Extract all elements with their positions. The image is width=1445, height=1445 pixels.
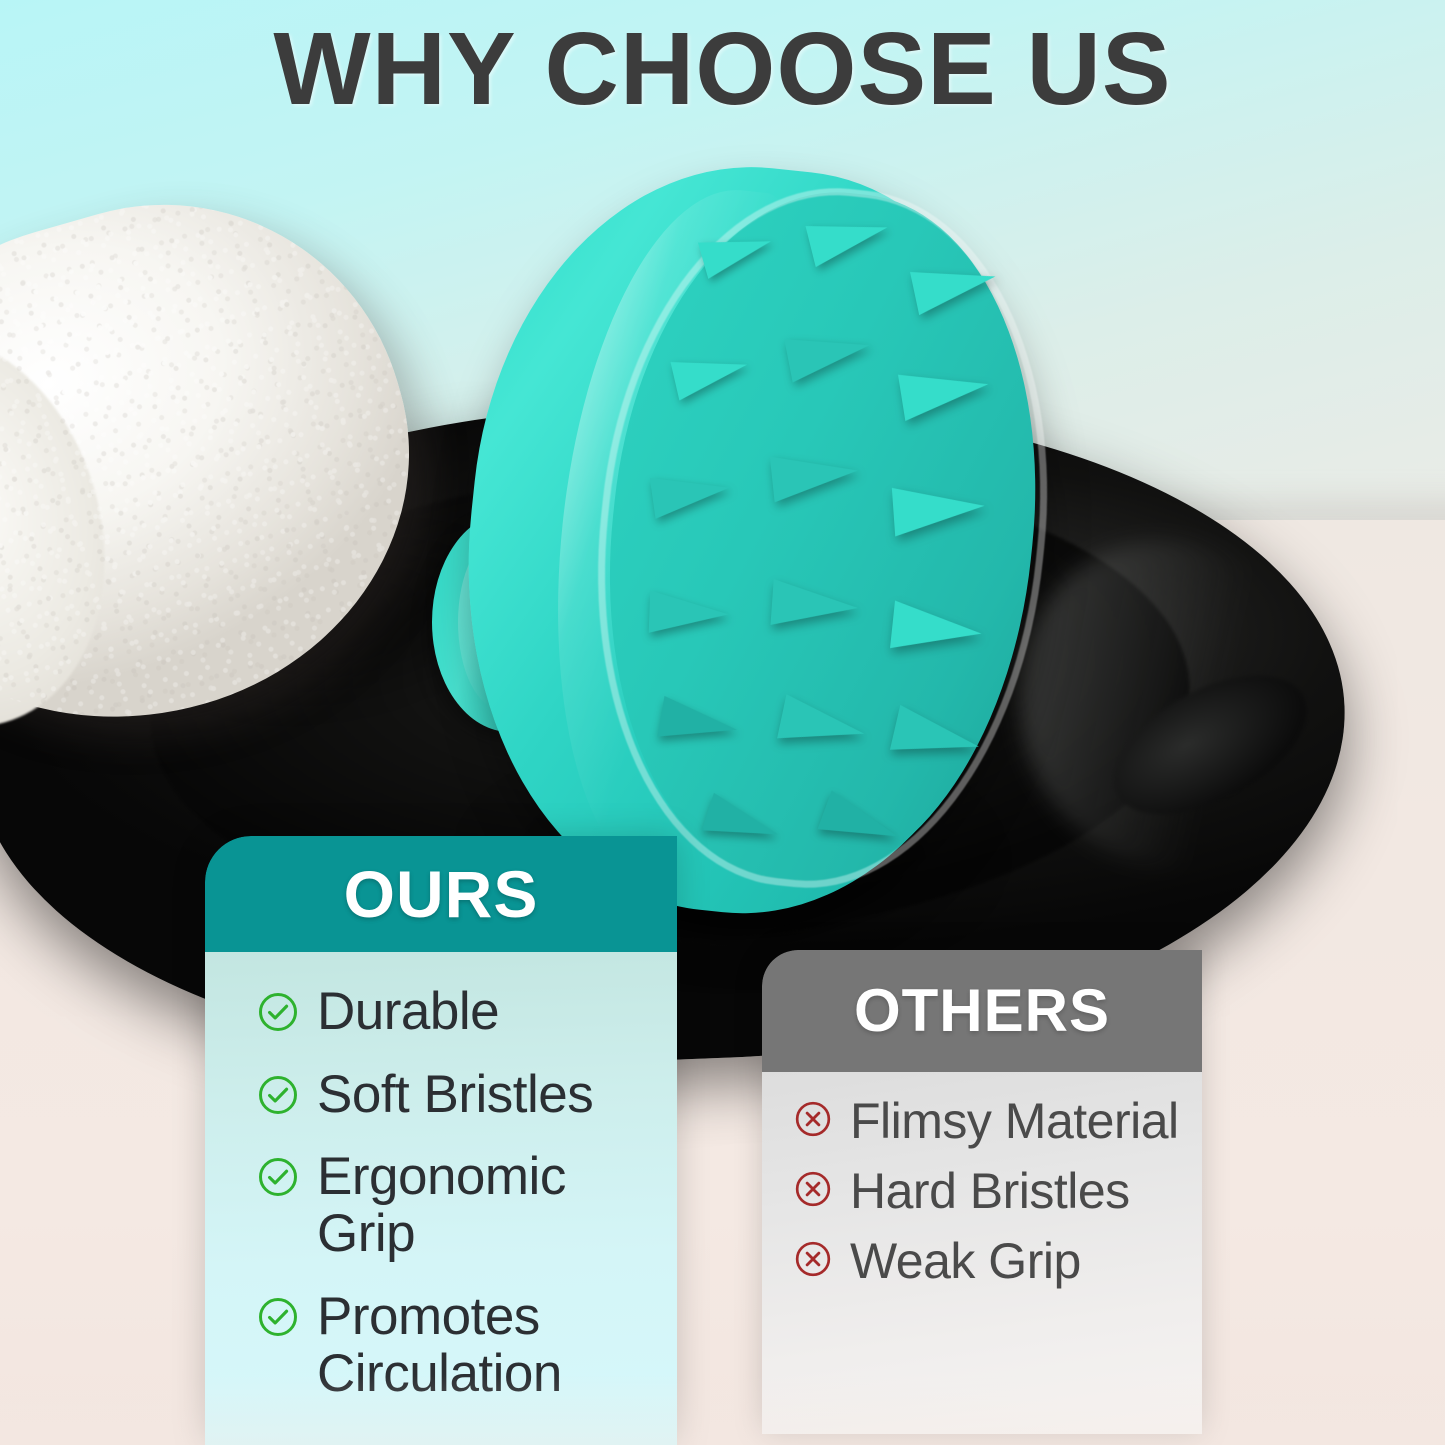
others-card-header: OTHERS bbox=[762, 950, 1202, 1072]
list-item: Ergonomic Grip bbox=[257, 1149, 651, 1262]
check-circle-icon bbox=[257, 1074, 299, 1116]
list-item: Hard Bristles bbox=[794, 1164, 1184, 1218]
x-circle-icon bbox=[794, 1240, 832, 1278]
list-item-label: Promotes Circulation bbox=[317, 1289, 651, 1402]
list-item-label: Weak Grip bbox=[850, 1234, 1081, 1288]
ours-comparison-card: OURS Durable bbox=[205, 836, 677, 1445]
list-item: Durable bbox=[257, 984, 651, 1041]
list-item-label: Hard Bristles bbox=[850, 1164, 1130, 1218]
ours-card-header: OURS bbox=[205, 836, 677, 952]
check-circle-icon bbox=[257, 1156, 299, 1198]
ours-heading: OURS bbox=[344, 861, 539, 927]
ours-feature-list: Durable Soft Bristles bbox=[257, 984, 651, 1402]
list-item-label: Soft Bristles bbox=[317, 1067, 593, 1124]
bristle-cone bbox=[649, 590, 730, 635]
bristle-cone bbox=[892, 481, 986, 536]
list-item-label: Ergonomic Grip bbox=[317, 1149, 651, 1262]
others-feature-list: Flimsy Material Hard Bristles bbox=[794, 1094, 1184, 1288]
page-title: WHY CHOOSE US bbox=[0, 12, 1445, 125]
check-circle-icon bbox=[257, 1296, 299, 1338]
check-circle-icon bbox=[257, 991, 299, 1033]
infographic-canvas: WHY CHOOSE US OURS Durable bbox=[0, 0, 1445, 1445]
list-item: Weak Grip bbox=[794, 1234, 1184, 1288]
others-card-body: Flimsy Material Hard Bristles bbox=[762, 1072, 1202, 1434]
list-item-label: Flimsy Material bbox=[850, 1094, 1179, 1148]
bristle-cone bbox=[890, 601, 984, 658]
x-circle-icon bbox=[794, 1100, 832, 1138]
others-heading: OTHERS bbox=[854, 981, 1110, 1041]
list-item: Flimsy Material bbox=[794, 1094, 1184, 1148]
bristle-cone bbox=[770, 448, 860, 503]
bristle-cone bbox=[771, 579, 860, 631]
list-item: Soft Bristles bbox=[257, 1067, 651, 1124]
x-circle-icon bbox=[794, 1170, 832, 1208]
list-item: Promotes Circulation bbox=[257, 1289, 651, 1402]
list-item-label: Durable bbox=[317, 984, 499, 1041]
ours-card-body: Durable Soft Bristles bbox=[205, 952, 677, 1445]
others-comparison-card: OTHERS Flimsy Material bbox=[762, 950, 1202, 1434]
